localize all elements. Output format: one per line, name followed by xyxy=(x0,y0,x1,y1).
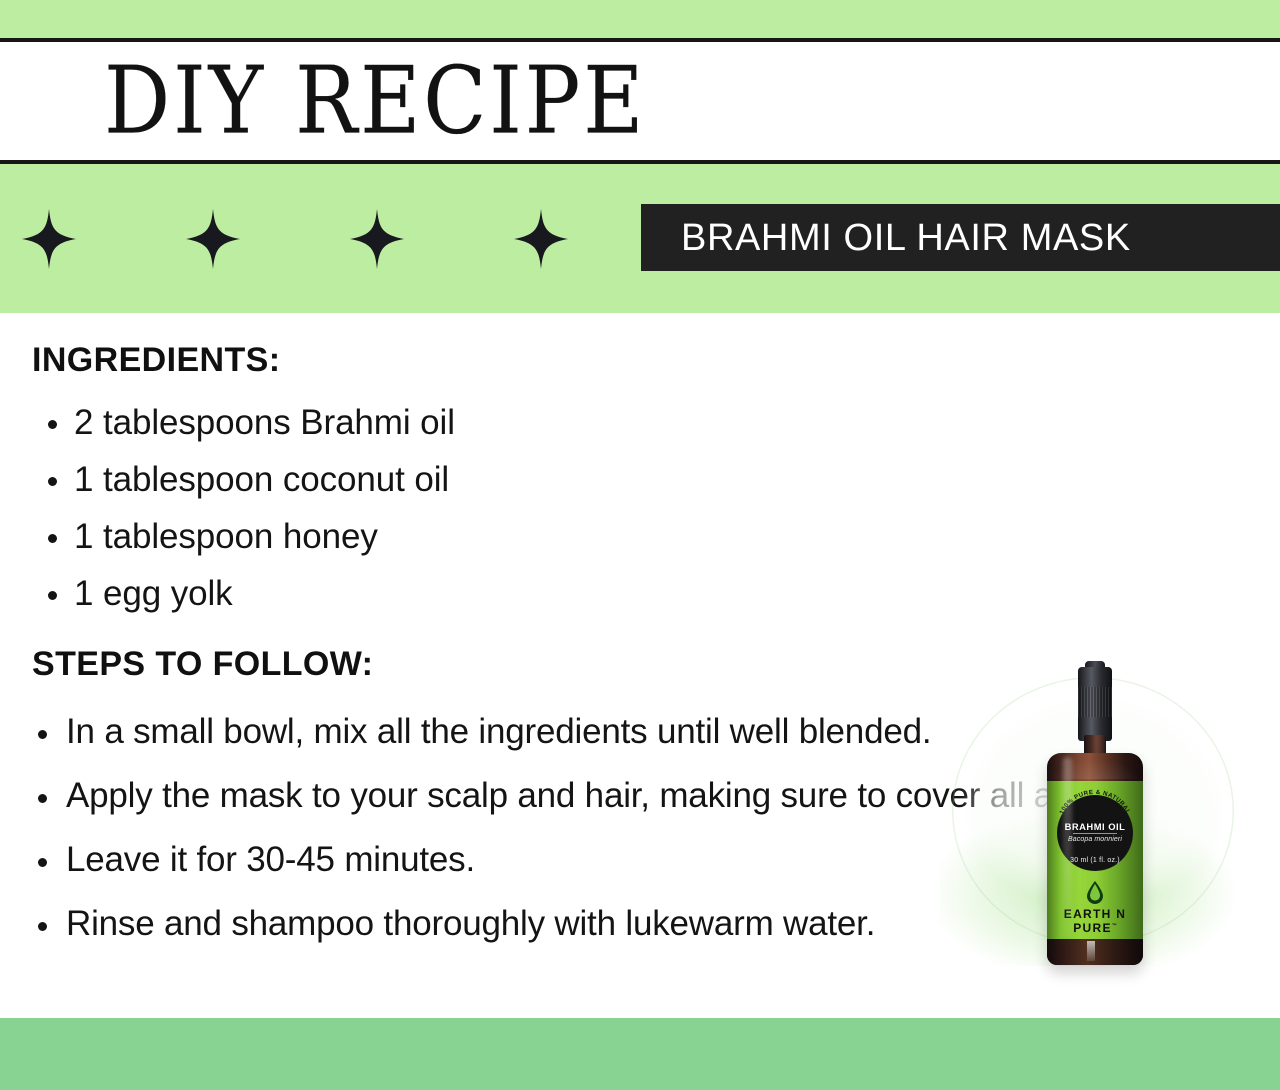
four-point-star-icon xyxy=(350,209,404,269)
dropper-cap xyxy=(1078,667,1112,741)
product-title-bar: BRAHMI OIL HAIR MASK xyxy=(641,204,1280,271)
product-image: 100% PURE & NATURAL BRAHMI OIL Bacopa mo… xyxy=(930,661,1260,981)
water-drop-icon xyxy=(1084,880,1106,904)
page-title: DIY RECIPE xyxy=(104,55,646,148)
ingredients-section: INGREDIENTS: 2 tablespoons Brahmi oil 1 … xyxy=(32,341,672,622)
label-volume: 30 ml (1 fl. oz.) xyxy=(1047,857,1143,864)
bottom-green-strip xyxy=(0,1018,1280,1090)
list-item: 1 egg yolk xyxy=(32,565,672,622)
label-brand-name: EARTH N PURE™ xyxy=(1047,907,1143,935)
list-item: 2 tablespoons Brahmi oil xyxy=(32,394,672,451)
main-content: INGREDIENTS: 2 tablespoons Brahmi oil 1 … xyxy=(0,313,1280,1018)
top-green-strip xyxy=(0,0,1280,38)
four-point-star-icon xyxy=(186,209,240,269)
headline-band: DIY RECIPE xyxy=(0,42,1280,160)
four-point-star-icon xyxy=(22,209,76,269)
trademark-mark: ™ xyxy=(1112,923,1117,929)
sparkle-row xyxy=(22,164,568,313)
product-name-banner: BRAHMI OIL HAIR MASK xyxy=(0,164,1280,313)
bottle-label: 100% PURE & NATURAL BRAHMI OIL Bacopa mo… xyxy=(1047,781,1143,939)
list-item: 1 tablespoon honey xyxy=(32,508,672,565)
ingredients-list: 2 tablespoons Brahmi oil 1 tablespoon co… xyxy=(32,394,672,622)
four-point-star-icon xyxy=(514,209,568,269)
label-product-title: BRAHMI OIL xyxy=(1047,821,1143,832)
svg-text:100% PURE & NATURAL: 100% PURE & NATURAL xyxy=(1058,789,1131,815)
list-item: 1 tablespoon coconut oil xyxy=(32,451,672,508)
label-botanical-name: Bacopa monnieri xyxy=(1047,836,1143,843)
recipe-poster: DIY RECIPE BRAHMI OIL HAIR MASK INGREDI xyxy=(0,0,1280,1090)
ingredients-heading: INGREDIENTS: xyxy=(32,341,672,380)
dropper-bottle: 100% PURE & NATURAL BRAHMI OIL Bacopa mo… xyxy=(1043,667,1147,967)
bottle-body: 100% PURE & NATURAL BRAHMI OIL Bacopa mo… xyxy=(1047,753,1143,965)
bottle-base xyxy=(1047,939,1143,965)
brand-text: EARTH N PURE xyxy=(1064,907,1126,935)
arc-text-value: 100% PURE & NATURAL xyxy=(1058,789,1131,815)
bottle-shoulder xyxy=(1047,753,1143,779)
product-title: BRAHMI OIL HAIR MASK xyxy=(641,219,1131,257)
